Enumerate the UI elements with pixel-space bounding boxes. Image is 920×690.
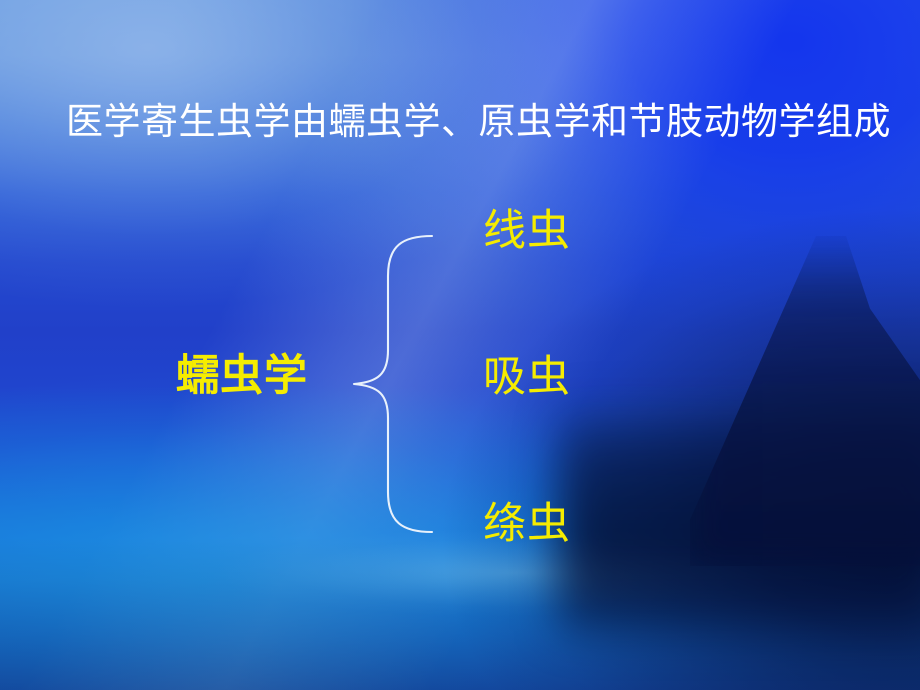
- branch-label-3: 绦虫: [483, 503, 571, 546]
- slide-canvas: 医学寄生虫学由蠕虫学、原虫学和节肢动物学组成 蠕虫学 线虫 吸虫 绦虫: [0, 0, 920, 690]
- branch-label-1: 线虫: [483, 210, 571, 253]
- left-curly-brace-icon: [344, 224, 444, 544]
- branch-label-2: 吸虫: [483, 356, 571, 399]
- slide-content: 医学寄生虫学由蠕虫学、原虫学和节肢动物学组成 蠕虫学 线虫 吸虫 绦虫: [0, 0, 920, 690]
- root-category-label: 蠕虫学: [176, 355, 308, 398]
- page-title: 医学寄生虫学由蠕虫学、原虫学和节肢动物学组成: [66, 100, 876, 144]
